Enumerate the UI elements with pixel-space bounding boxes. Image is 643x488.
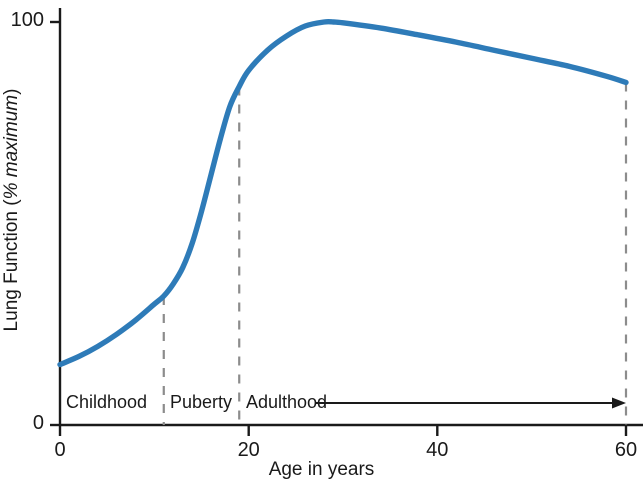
x-tick-label-20: 20: [229, 439, 269, 462]
x-tick-label-60: 60: [606, 439, 643, 462]
x-tick-label-0: 0: [40, 439, 80, 462]
lung-function-curve: [60, 22, 626, 365]
chart-plot-area: [0, 0, 643, 488]
x-tick-label-40: 40: [417, 439, 457, 462]
adulthood-arrow: [315, 398, 626, 409]
y-tick-label-100: 100: [0, 9, 44, 32]
x-axis-title: Age in years: [0, 459, 643, 481]
stage-label-puberty: Puberty: [170, 392, 232, 413]
stage-label-childhood: Childhood: [66, 392, 147, 413]
y-tick-label-0: 0: [0, 412, 44, 435]
y-axis-title-plain: Lung Function (: [1, 199, 22, 331]
y-axis-title-close: ): [1, 89, 22, 95]
y-axis-title-italic: % maximum: [1, 95, 22, 200]
lung-function-chart: Lung Function (% maximum) Age in years 1…: [0, 0, 643, 488]
stage-label-adulthood: Adulthood: [246, 392, 327, 413]
